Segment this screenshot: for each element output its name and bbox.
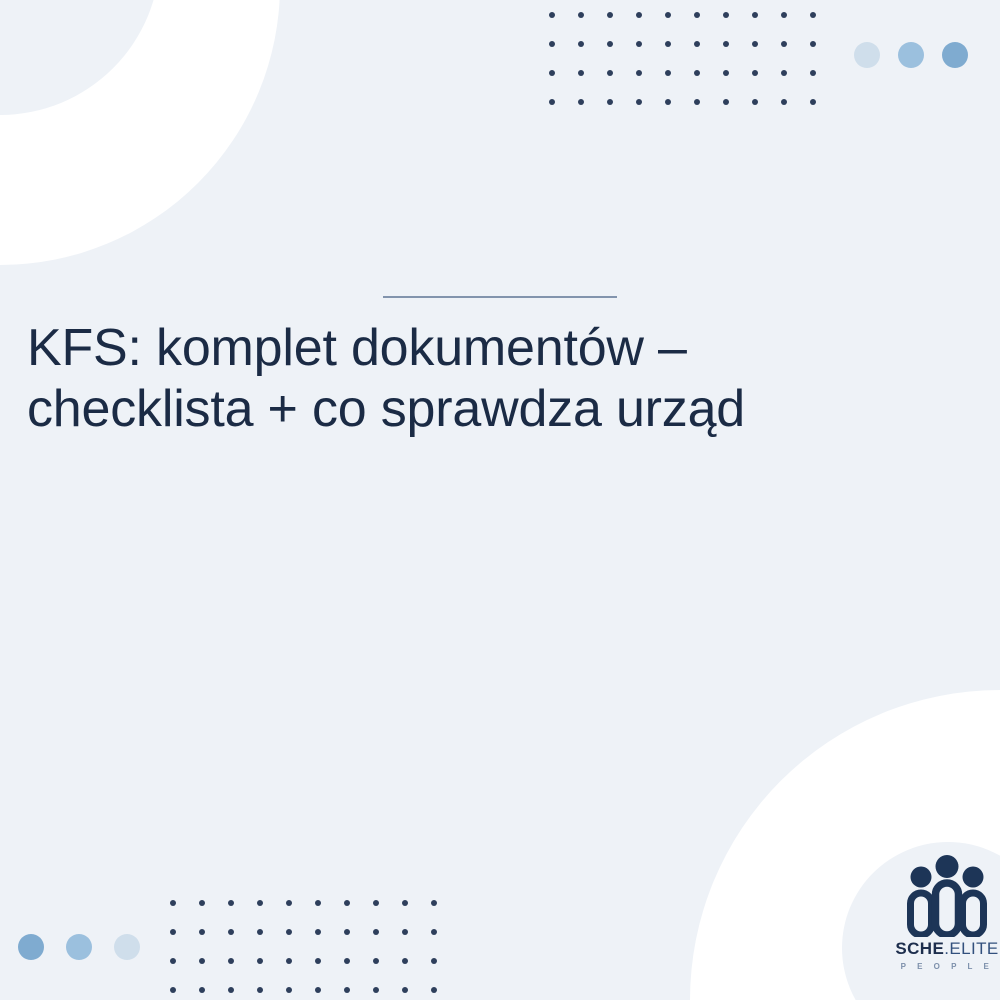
logo-word-primary: SCHE (895, 939, 944, 958)
decor-dot (199, 900, 228, 929)
decor-dot (257, 900, 286, 929)
decor-dot (694, 70, 723, 99)
decor-dot (373, 929, 402, 958)
decor-dot (607, 99, 636, 128)
decor-dot (723, 99, 752, 128)
decor-dot (694, 41, 723, 70)
decor-dot (344, 900, 373, 929)
decor-dot (665, 70, 694, 99)
decor-dot (315, 900, 344, 929)
decor-dot (402, 900, 431, 929)
decor-dot (228, 958, 257, 987)
decor-dot (431, 929, 460, 958)
decor-dot (431, 987, 460, 1000)
decor-dot (170, 900, 199, 929)
decor-dot (752, 41, 781, 70)
decor-dot (549, 41, 578, 70)
decor-dot (315, 958, 344, 987)
decor-circle (898, 42, 924, 68)
decor-dot (228, 929, 257, 958)
logo-word-secondary: .ELITE (944, 939, 998, 958)
three-people-icon (901, 855, 993, 937)
decor-dot (636, 70, 665, 99)
decor-dot-grid-top-right (549, 12, 839, 128)
decor-circle (66, 934, 92, 960)
decor-dot (549, 70, 578, 99)
decor-dot (344, 987, 373, 1000)
decor-circle (18, 934, 44, 960)
decor-circle (114, 934, 140, 960)
decor-dot (810, 70, 839, 99)
logo-tagline: P E O P L E (862, 962, 1000, 971)
decor-dot (402, 929, 431, 958)
decor-dot (228, 987, 257, 1000)
decor-dot (752, 70, 781, 99)
decor-dot (549, 99, 578, 128)
decor-dot (578, 99, 607, 128)
decor-dot (781, 70, 810, 99)
decor-dot (665, 41, 694, 70)
decor-dot (578, 41, 607, 70)
decor-dot (694, 99, 723, 128)
decor-dot (402, 987, 431, 1000)
decor-dot (578, 12, 607, 41)
decor-circles-top-right (854, 42, 968, 68)
decor-dot (636, 12, 665, 41)
decor-dot (286, 958, 315, 987)
decor-dot (228, 900, 257, 929)
decor-dot (636, 99, 665, 128)
decor-dot (810, 99, 839, 128)
decor-dot (402, 958, 431, 987)
decor-dot (344, 958, 373, 987)
decor-dot (286, 929, 315, 958)
social-card: KFS: komplet dokumentów – checklista + c… (0, 0, 1000, 1000)
decor-dot (607, 41, 636, 70)
decor-dot (170, 987, 199, 1000)
decor-dot (170, 929, 199, 958)
decor-dot (373, 958, 402, 987)
decor-dot (781, 99, 810, 128)
decor-dot (257, 929, 286, 958)
content-block: KFS: komplet dokumentów – checklista + c… (27, 296, 927, 441)
decor-dot (199, 958, 228, 987)
decor-dot (286, 900, 315, 929)
decor-dot (257, 987, 286, 1000)
decor-circles-bottom-left (18, 934, 140, 960)
decor-dot (694, 12, 723, 41)
decor-dot (636, 41, 665, 70)
decor-dot (431, 900, 460, 929)
decor-dot (781, 41, 810, 70)
decor-dot (257, 958, 286, 987)
decor-dot (578, 70, 607, 99)
decor-dot (373, 987, 402, 1000)
decor-dot (665, 99, 694, 128)
logo-wordmark: SCHE.ELITE (862, 939, 1000, 959)
decor-dot (373, 900, 402, 929)
decor-circle (942, 42, 968, 68)
decor-dot (170, 958, 199, 987)
decor-dot (810, 41, 839, 70)
decor-dot (607, 12, 636, 41)
decor-dot (315, 929, 344, 958)
decor-dot (199, 929, 228, 958)
decor-dot (752, 12, 781, 41)
decor-dot (549, 12, 578, 41)
page-title: KFS: komplet dokumentów – checklista + c… (27, 318, 827, 441)
title-divider (383, 296, 617, 298)
decor-dot (723, 12, 752, 41)
decor-dot (607, 70, 636, 99)
decor-dot (810, 12, 839, 41)
decor-circle (854, 42, 880, 68)
decor-dot (199, 987, 228, 1000)
decor-dot (344, 929, 373, 958)
decor-dot (431, 958, 460, 987)
decor-dot-grid-bottom-left (170, 900, 460, 1000)
decor-dot (752, 99, 781, 128)
decor-dot (781, 12, 810, 41)
brand-logo: SCHE.ELITE P E O P L E (862, 855, 1000, 971)
decor-dot (286, 987, 315, 1000)
decor-dot (723, 41, 752, 70)
decor-dot (723, 70, 752, 99)
decor-dot (665, 12, 694, 41)
decor-dot (315, 987, 344, 1000)
